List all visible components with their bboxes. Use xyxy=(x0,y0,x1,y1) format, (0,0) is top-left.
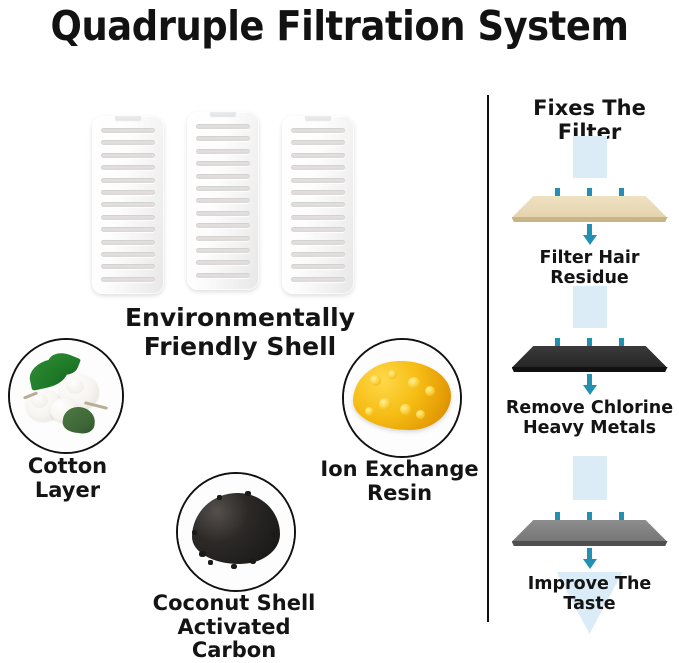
cartridge-tab-icon xyxy=(115,116,141,120)
cartridge-slot-grille xyxy=(196,124,250,278)
cartridge-tab-icon xyxy=(305,116,331,120)
caption-line: Activated Carbon xyxy=(177,615,290,663)
activated-carbon-image xyxy=(176,472,296,592)
right-panel: Fixes The Filter Filter Hair Residue xyxy=(500,90,679,633)
stage-label-filter-hair-residue: Filter Hair Residue xyxy=(500,248,679,289)
panel-divider xyxy=(487,95,489,622)
water-stream xyxy=(573,286,607,328)
caption-line: Coconut Shell xyxy=(153,591,316,615)
stage-label-remove-chlorine: Remove Chlorine Heavy Metals xyxy=(500,398,679,439)
shell-label-line1: Environmentally xyxy=(125,303,355,332)
stage-label-line: Filter Hair Residue xyxy=(540,248,640,288)
beige-cotton-layer-slab xyxy=(512,196,668,224)
caption-line: Resin xyxy=(367,481,432,505)
shell-label: Environmentally Friendly Shell xyxy=(95,304,385,361)
page-title: Quadruple Filtration System xyxy=(34,2,645,50)
cartridge-slot-grille xyxy=(291,128,345,282)
stage-label-line: Remove Chlorine xyxy=(506,398,673,418)
flow-stage-filter-hair-residue: Filter Hair Residue xyxy=(500,136,679,276)
water-stream xyxy=(573,136,607,178)
activated-carbon-caption: Coconut Shell Activated Carbon xyxy=(139,592,329,663)
ion-exchange-resin-caption: Ion Exchange Resin xyxy=(312,458,487,505)
cartridge-tab-icon xyxy=(210,112,236,116)
left-panel: Environmentally Friendly Shell Cotton La… xyxy=(0,80,478,633)
gray-resin-layer-slab xyxy=(512,520,668,548)
ion-exchange-resin-image xyxy=(342,338,462,458)
water-stream xyxy=(573,456,607,500)
shell-label-line2: Friendly Shell xyxy=(144,332,337,361)
cotton-layer-image xyxy=(8,338,124,454)
caption-line: Ion Exchange xyxy=(320,457,478,481)
caption-line: Cotton Layer xyxy=(28,454,107,502)
black-carbon-layer-slab xyxy=(512,346,668,374)
cartridge-slot-grille xyxy=(101,128,155,282)
filter-cartridge xyxy=(282,116,354,294)
cotton-layer-caption: Cotton Layer xyxy=(0,455,135,502)
flow-stage-improve-the-taste: Improve The Taste xyxy=(500,456,679,633)
stage-label-line: Heavy Metals xyxy=(523,418,656,438)
filter-cartridge xyxy=(92,116,164,294)
filter-cartridges-image xyxy=(92,94,354,294)
stage-label-line: Improve The Taste xyxy=(528,574,652,614)
flow-stage-remove-chlorine: Remove Chlorine Heavy Metals xyxy=(500,286,679,446)
stage-label-improve-the-taste: Improve The Taste xyxy=(500,574,679,615)
filter-cartridge xyxy=(187,112,259,290)
